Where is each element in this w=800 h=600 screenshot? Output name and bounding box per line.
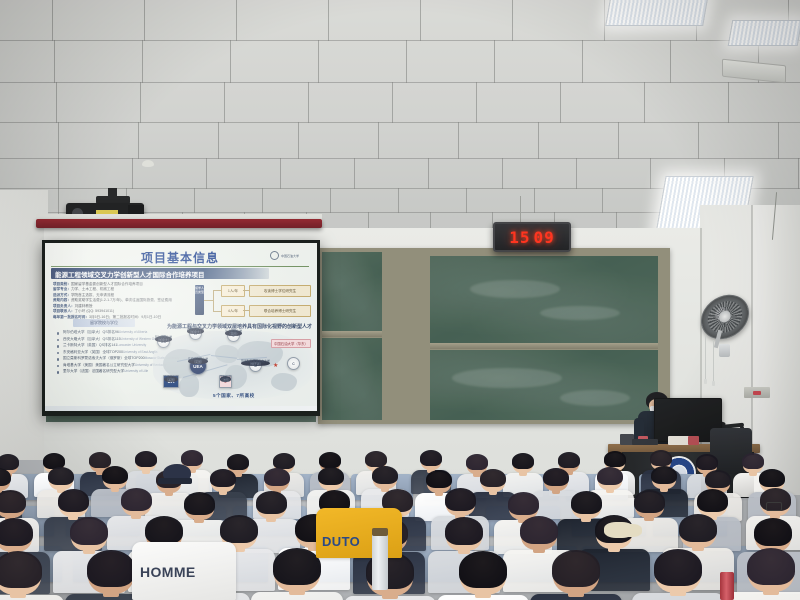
ceiling-tile [0,82,57,123]
audience-hair [58,489,89,512]
audience-hair [318,467,344,485]
audience-member [437,551,529,600]
fan-cord-handle [712,381,715,386]
audience-hair [273,453,295,469]
ceiling-tile [406,40,495,83]
audience-member [0,551,64,600]
audience-hair [70,517,108,545]
map-node: C [287,357,300,370]
map-node: UK 肯塔基大学（美国） [163,375,179,388]
projection-screen: 项目基本信息 中国石油大学 能源工程领域交叉力学创新型人才国际合作培养项目 项目… [42,240,320,416]
audience-hair [264,468,290,486]
ceiling-tile [236,0,329,41]
ceiling-tile [0,0,53,41]
clock-minutes: 09 [534,228,555,247]
audience-hair [0,518,33,546]
audience-hair [552,550,600,587]
presentation-slide: 项目基本信息 中国石油大学 能源工程领域交叉力学创新型人才国际合作培养项目 项目… [45,243,317,411]
audience-hair [679,514,717,542]
ceiling-tile [58,158,133,189]
ceiling-tile [354,158,429,189]
clock-wire [520,196,521,222]
chalk-rail [322,331,382,337]
lecture-hall-photo: 项目基本信息 中国石油大学 能源工程领域交叉力学创新型人才国际合作培养项目 项目… [0,0,800,600]
audience-hair [759,469,785,487]
audience-hair [604,451,626,467]
ceiling-tile [576,158,651,189]
ceiling-tile [280,158,355,189]
audience-hair [135,451,157,467]
ceiling-tile [58,122,139,159]
ceiling-tile [698,122,779,159]
ceiling-tile [502,158,577,189]
audience-hair [48,467,74,485]
ceiling-tile [298,122,379,159]
map-node: UEA 东安格利亚大学（英国） [189,357,207,375]
audience-hair [651,466,677,484]
ceiling-tile [0,122,59,159]
audience-hair [480,469,506,487]
audience-hair [696,454,718,470]
audience-member [725,548,800,600]
ceiling-light-panel [728,20,800,46]
water-bottle [372,532,388,590]
chalk-rail [430,343,658,349]
audience-hair [705,470,731,488]
audience-hair [697,489,728,512]
fan-pull-cord [705,336,706,380]
ceiling-tile [262,188,331,213]
audience-hair [512,453,534,469]
ceiling-tile [618,122,699,159]
ceiling-tile [728,82,800,123]
audience-hair [273,548,321,585]
ceiling-tile [0,158,59,189]
audience-torso-yellow [316,508,402,558]
audience-hair [220,515,258,543]
desk-keyboard [632,439,658,445]
ceiling-tile [328,0,421,41]
fan-motor-housing [719,344,730,357]
wall-mounted-fan [700,296,748,336]
shirt-text-duto: DUTO [322,534,360,549]
china-university-badge: 中国石油大学（华东） [271,339,311,348]
ceiling-tile [644,82,729,123]
ceiling-tile [218,122,299,159]
audience-hair [102,466,128,484]
slide-title: 项目基本信息 [141,249,219,266]
ceiling-tile [538,122,619,159]
china-location-star-icon: ★ [273,363,278,369]
audience-hair [747,548,795,585]
slide-bottom-bar [45,406,317,411]
ceiling-light-panel [605,0,709,26]
ceiling-tile [144,0,237,41]
university-seal-icon: C [287,357,300,370]
ceiling-tile [308,82,393,123]
ceiling-tile [330,188,399,213]
audience-hair [742,453,764,469]
audience-hair [0,551,42,588]
audience-hair [0,490,26,513]
audience-hair [754,518,792,546]
organization-logo: 中国石油大学 [270,251,299,260]
flow-source-node: 留学人员类型 [195,285,204,315]
flow-target-2: 联合培养博士研究生 [249,305,311,317]
ceiling-tile [512,0,605,41]
flow-quota-1: 1人/年 [221,285,245,297]
audience-member [344,552,436,600]
ceiling-tile [420,0,513,41]
audience-hair [543,468,569,486]
ceiling-tile [458,122,539,159]
ceiling-tile [206,158,281,189]
ceiling-tile [378,122,459,159]
audience-hair [121,488,152,511]
audience-hair [466,454,488,470]
map-node: W 西安大略大学（加拿大） [189,327,202,340]
audience-hair [210,469,236,487]
ceiling-tile [778,122,800,159]
map-node: UA 阿尔伯塔大学（加拿大） [157,335,170,348]
map-node: L 兰卡斯特大学（英国） [227,329,240,342]
audience-hair [558,452,580,468]
flow-target-1: 攻读博士学位研究生 [249,285,311,297]
slide-banner: 能源工程领域交叉力学创新型人才国际合作培养项目 [51,268,269,279]
ceiling-tile [466,188,535,213]
ceiling-tile [476,82,561,123]
ceiling-tile [56,82,141,123]
ceiling-tile [428,158,503,189]
ceiling-tile [142,40,231,83]
fan-pull-cord [713,340,714,382]
audience-hair [508,492,539,515]
ceiling-tile [140,82,225,123]
audience-hair [227,454,249,470]
ceiling-tile [494,40,583,83]
ceiling-tile [534,188,603,213]
audience-hair [426,470,452,488]
ceiling-tile [54,40,143,83]
desk-cup-red [688,436,699,445]
slide-meta-block: 项目类别：国家留学基金委创新型人才国际合作培养项目 留学专业：力学、土木工程、机… [53,282,172,320]
ceiling-tile [138,122,219,159]
ceiling-tile [318,40,407,83]
audience-hair [459,551,507,588]
water-bottle [720,572,734,600]
fan-cord-handle [704,379,707,384]
audience-member [530,550,622,600]
slide-title-underline [51,266,309,267]
shirt-text-homme: HOMME [140,564,196,580]
projection-screen-case [36,219,322,228]
bottle-cap [372,528,388,536]
ceiling-tile [230,40,319,83]
audience-area: DUTOHOMME [0,446,800,600]
audience-hair [184,492,215,515]
audience-member [632,549,724,600]
smoke-detector-icon [142,160,154,167]
hair-bow [618,524,642,537]
ceiling-tile [224,82,309,123]
audience-hair [445,517,483,545]
audience-hair [571,491,602,514]
audience-hair [420,450,442,466]
ceiling-tile [560,82,645,123]
map-node: M 莫斯科罗蒙诺索夫大学（俄罗斯） [249,359,262,372]
audience-hair [319,452,341,468]
ceiling-tile [194,188,263,213]
audience-hair [520,516,558,544]
audience-hair [445,488,476,511]
flow-quota-2: 4人/年 [221,305,245,317]
audience-hair [256,491,287,514]
cap-brim [158,478,192,484]
unilist-heading: 留学院校与学位 [73,319,135,327]
slide-flow-chart: 留学人员类型 1人/年 攻读博士学位研究生 4人/年 联合培养博士研究生 [195,281,313,319]
audience-hair [654,549,702,586]
audience-hair [634,490,665,513]
ceiling-tile [52,0,145,41]
audience-hair [597,467,623,485]
audience-hair [145,516,183,544]
world-map-graphic: UA 阿尔伯塔大学（加拿大） W 西安大略大学（加拿大） L 兰卡斯特大学（英国… [153,331,313,399]
left-wall [0,190,48,460]
ceiling-tile [398,188,467,213]
map-node: L 里尔大学（法国） [219,375,232,388]
audience-hair [650,450,672,466]
led-wall-clock: 15 09 [493,222,571,252]
eyeglasses [766,502,782,511]
clock-hours: 15 [509,228,530,247]
ceiling-tile [582,40,671,83]
audience-hair [87,550,135,587]
audience-hair [372,466,398,484]
ceiling-tile [392,82,477,123]
ceiling-tile [0,40,55,83]
audience-hair [181,450,203,466]
audience-hair [365,451,387,467]
slide-footer: 5个国家、7所高校 [213,393,255,399]
logo-ring-icon [270,251,279,260]
